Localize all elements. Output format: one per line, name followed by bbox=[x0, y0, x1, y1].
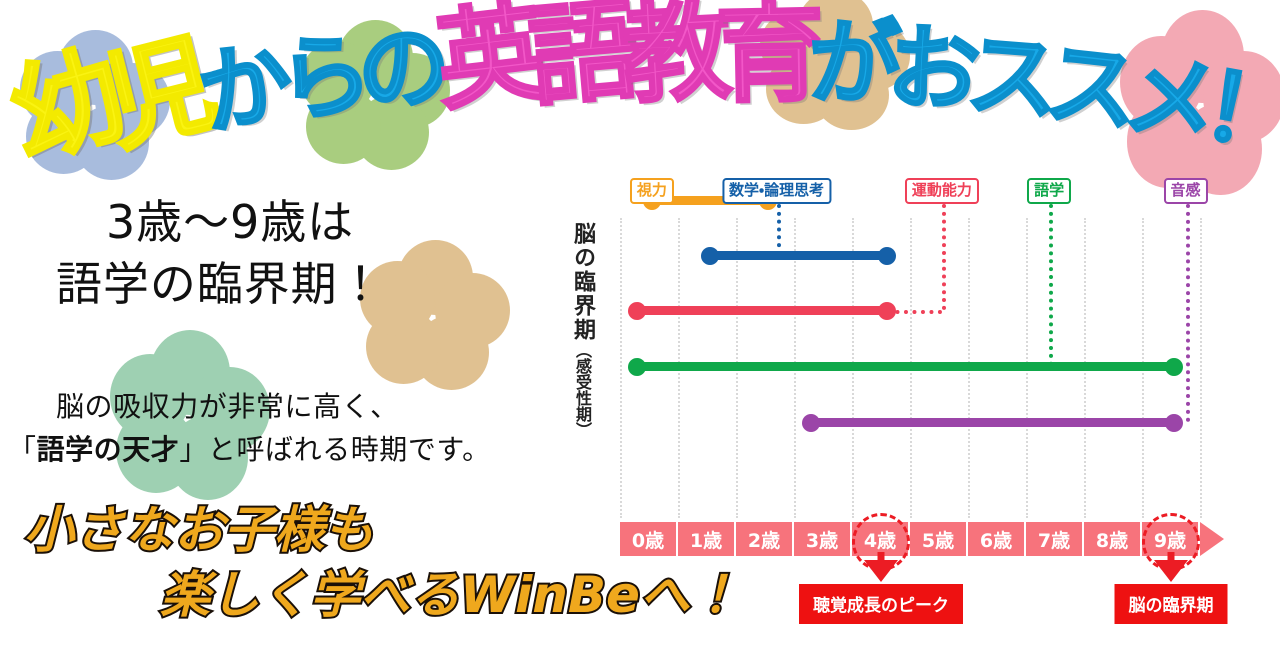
chart-guide-line-2 bbox=[942, 204, 946, 310]
chart-category-label-0: 視力 bbox=[630, 178, 674, 204]
title-char: ！ bbox=[1197, 60, 1280, 167]
poster-canvas: 幼児からの英語教育がおススメ！ 3歳〜9歳は 語学の臨界期！ 脳の吸収力が非常に… bbox=[0, 0, 1280, 646]
brain-critical-period-chart: 脳の臨界期（感受性期） 0歳1歳2歳3歳4歳5歳6歳7歳8歳9歳 聴覚成長のピー… bbox=[540, 170, 1280, 646]
chart-category-label-1: 数学・論理思考 bbox=[722, 178, 831, 204]
annotation-callout-0: 聴覚成長のピーク bbox=[799, 584, 963, 624]
bar-cap-start bbox=[701, 247, 719, 265]
chart-category-label-3: 語学 bbox=[1027, 178, 1071, 204]
chart-category-label-4: 音感 bbox=[1163, 178, 1207, 204]
bar-cap-end bbox=[878, 302, 896, 320]
y-axis-label-sub: （感受性期） bbox=[573, 342, 592, 438]
gridline bbox=[1200, 218, 1202, 518]
chart-bar-3 bbox=[637, 362, 1174, 371]
chart-bar-4 bbox=[811, 418, 1174, 427]
subcopy-quote-open: 「 bbox=[8, 433, 37, 466]
lead-line-1: 3歳〜9歳は bbox=[106, 186, 354, 252]
chart-bar-1 bbox=[710, 251, 887, 260]
page-title: 幼児からの英語教育がおススメ！ bbox=[8, 0, 1278, 156]
bar-cap-start bbox=[628, 358, 646, 376]
bar-cap-end bbox=[878, 247, 896, 265]
subcopy-emphasis: 語学の天才 bbox=[37, 433, 180, 466]
subcopy-quote-tail: 」と呼ばれる時期です。 bbox=[179, 433, 490, 466]
bar-cap-start bbox=[628, 302, 646, 320]
cta-line-1: 小さなお子様も bbox=[24, 505, 374, 555]
subcopy-line-1: 脳の吸収力が非常に高く、 bbox=[56, 385, 399, 425]
chart-guide-line-1 bbox=[777, 204, 781, 255]
chart-guide-line-3 bbox=[1049, 204, 1053, 366]
lead-line-2: 語学の臨界期！ bbox=[56, 248, 384, 314]
annotation-callout-1: 脳の臨界期 bbox=[1115, 584, 1228, 624]
annotation-arrow-0 bbox=[864, 560, 898, 582]
bar-cap-end bbox=[1165, 358, 1183, 376]
chart-bar-2 bbox=[637, 306, 886, 315]
chart-y-axis-label: 脳の臨界期（感受性期） bbox=[554, 222, 594, 438]
y-axis-label-main: 脳の臨界期 bbox=[570, 222, 595, 342]
chart-guide-line-4 bbox=[1186, 204, 1190, 422]
bar-cap-end bbox=[1165, 414, 1183, 432]
chart-annotations: 聴覚成長のピーク脳の臨界期 bbox=[620, 522, 1220, 646]
chart-plot-area bbox=[620, 170, 1200, 518]
bar-cap-start bbox=[802, 414, 820, 432]
subcopy-line-2: 「語学の天才」と呼ばれる時期です。 bbox=[8, 428, 491, 468]
annotation-arrow-1 bbox=[1154, 560, 1188, 582]
chart-category-label-2: 運動能力 bbox=[905, 178, 979, 204]
